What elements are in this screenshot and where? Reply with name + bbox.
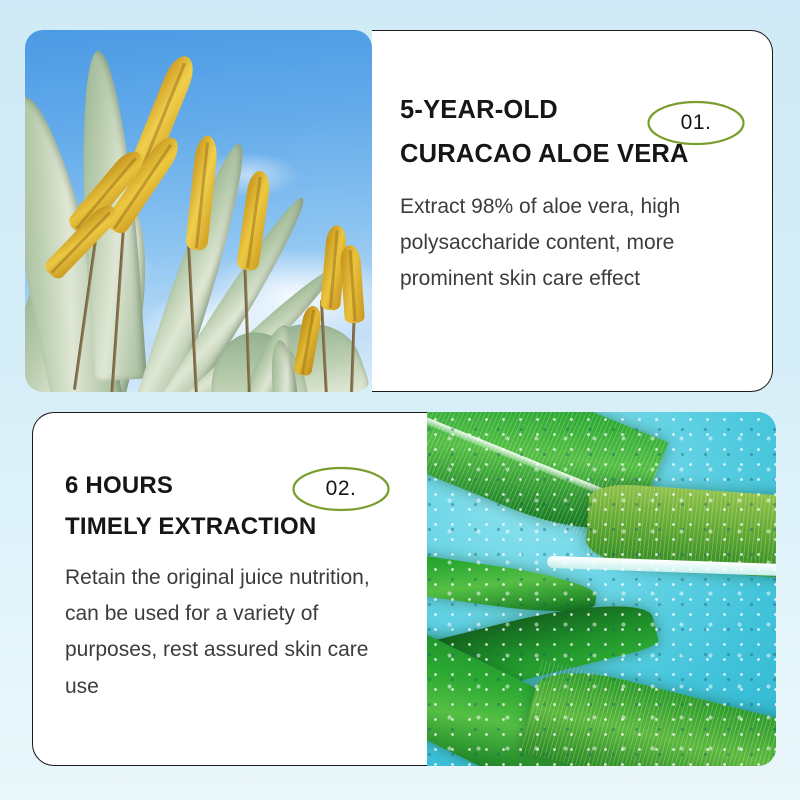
water-droplets-texture <box>427 412 776 766</box>
heading-line-2: TIMELY EXTRACTION <box>65 506 407 547</box>
heading-line-1: 5-YEAR-OLD <box>400 89 746 133</box>
heading-line-2: CURACAO ALOE VERA <box>400 133 746 177</box>
feature-card-02: 02. 6 HOURS TIMELY EXTRACTION Retain the… <box>32 412 776 766</box>
aloe-plant-photo <box>25 30 372 392</box>
feature-card-02-body: Retain the original juice nutrition, can… <box>65 560 395 705</box>
feature-card-02-heading: 6 HOURS TIMELY EXTRACTION <box>65 465 407 548</box>
feature-card-01-text-panel: 01. 5-YEAR-OLD CURACAO ALOE VERA Extract… <box>372 30 773 392</box>
heading-line-1: 6 HOURS <box>65 465 407 506</box>
feature-card-01-body: Extract 98% of aloe vera, high polysacch… <box>400 189 746 298</box>
feature-card-01-heading: 5-YEAR-OLD CURACAO ALOE VERA <box>400 89 746 177</box>
product-feature-page: 01. 5-YEAR-OLD CURACAO ALOE VERA Extract… <box>0 0 800 800</box>
feature-card-02-text-panel: 02. 6 HOURS TIMELY EXTRACTION Retain the… <box>32 412 427 766</box>
feature-card-01: 01. 5-YEAR-OLD CURACAO ALOE VERA Extract… <box>25 30 773 392</box>
aloe-leaf-macro-photo <box>427 412 776 766</box>
